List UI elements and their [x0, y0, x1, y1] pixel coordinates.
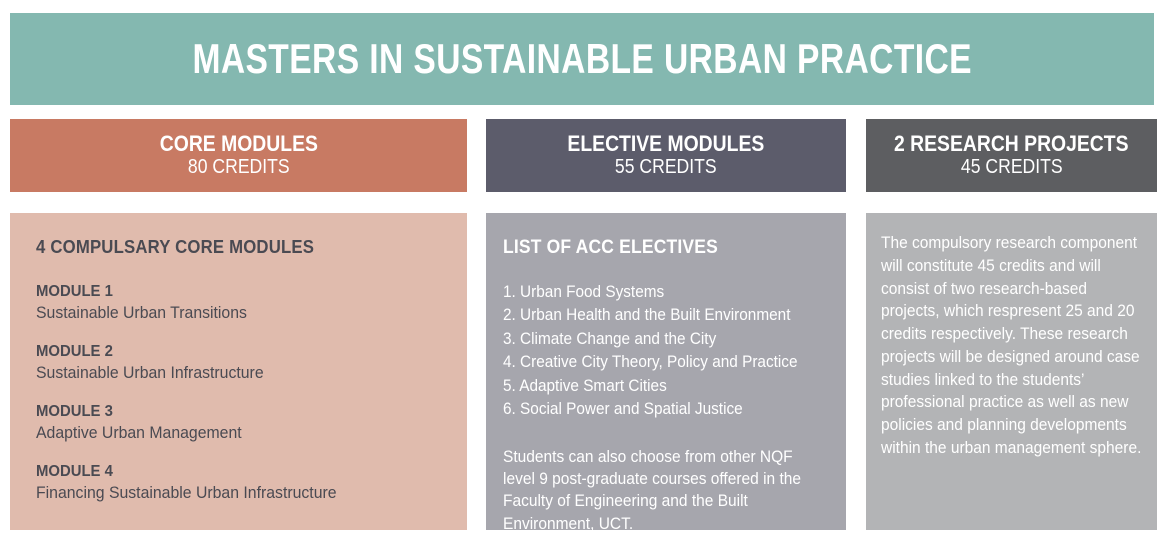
module-label: MODULE 2 — [36, 342, 413, 362]
core-modules-body-heading: 4 COMPULSARY CORE MODULES — [36, 237, 413, 258]
list-item: 2. Urban Health and the Built Environmen… — [503, 304, 807, 327]
module-name: Adaptive Urban Management — [36, 422, 413, 444]
module-entry: MODULE 2 Sustainable Urban Infrastructur… — [36, 342, 441, 384]
research-projects-header-title: 2 RESEARCH PROJECTS — [894, 132, 1129, 156]
module-label: MODULE 4 — [36, 462, 413, 482]
module-entry: MODULE 1 Sustainable Urban Transitions — [36, 282, 441, 324]
list-item: 5. Adaptive Smart Cities — [503, 375, 807, 398]
module-name: Sustainable Urban Infrastructure — [36, 362, 413, 384]
list-item: 1. Urban Food Systems — [503, 281, 807, 304]
poster-title: MASTERS IN SUSTAINABLE URBAN PRACTICE — [192, 38, 972, 80]
module-name: Financing Sustainable Urban Infrastructu… — [36, 482, 413, 504]
list-item: 3. Climate Change and the City — [503, 328, 807, 351]
core-modules-header-title: CORE MODULES — [159, 132, 317, 156]
research-projects-panel: The compulsory research component will c… — [866, 213, 1157, 530]
column-core-modules: CORE MODULES 80 CREDITS 4 COMPULSARY COR… — [10, 119, 467, 530]
research-projects-header-credits: 45 CREDITS — [961, 156, 1063, 178]
elective-list-heading: LIST OF ACC ELECTIVES — [503, 237, 804, 259]
elective-modules-header: ELECTIVE MODULES 55 CREDITS — [486, 119, 846, 192]
poster-title-banner: MASTERS IN SUSTAINABLE URBAN PRACTICE — [10, 13, 1154, 105]
core-modules-header: CORE MODULES 80 CREDITS — [10, 119, 467, 192]
elective-modules-header-title: ELECTIVE MODULES — [568, 132, 765, 156]
list-item: 6. Social Power and Spatial Justice — [503, 398, 807, 421]
research-description: The compulsory research component will c… — [881, 232, 1142, 460]
module-label: MODULE 1 — [36, 282, 413, 302]
core-modules-panel: 4 COMPULSARY CORE MODULES MODULE 1 Susta… — [10, 213, 467, 530]
module-label: MODULE 3 — [36, 402, 413, 422]
research-projects-header: 2 RESEARCH PROJECTS 45 CREDITS — [866, 119, 1157, 192]
core-modules-header-credits: 80 CREDITS — [188, 156, 290, 178]
elective-modules-header-credits: 55 CREDITS — [615, 156, 717, 178]
programme-structure-poster: MASTERS IN SUSTAINABLE URBAN PRACTICE CO… — [0, 0, 1168, 546]
column-elective-modules: ELECTIVE MODULES 55 CREDITS LIST OF ACC … — [486, 119, 846, 530]
module-name: Sustainable Urban Transitions — [36, 302, 413, 324]
list-item: 4. Creative City Theory, Policy and Prac… — [503, 351, 807, 374]
elective-additional-note: Students can also choose from other NQF … — [503, 446, 829, 530]
elective-modules-panel: LIST OF ACC ELECTIVES 1. Urban Food Syst… — [486, 213, 846, 530]
module-entry: MODULE 4 Financing Sustainable Urban Inf… — [36, 462, 441, 504]
column-research-projects: 2 RESEARCH PROJECTS 45 CREDITS The compu… — [866, 119, 1157, 530]
elective-list: 1. Urban Food Systems 2. Urban Health an… — [503, 281, 830, 422]
module-entry: MODULE 3 Adaptive Urban Management — [36, 402, 441, 444]
